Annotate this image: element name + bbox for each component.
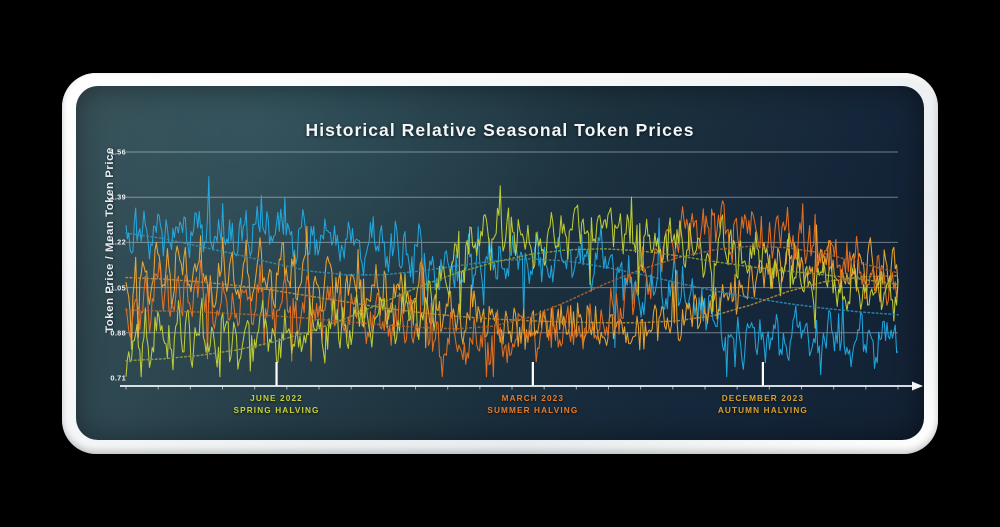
x-axis-marker-lines [277, 362, 763, 386]
series-lines [126, 177, 898, 377]
y-tick-label: 0.88 [92, 328, 126, 337]
y-tick-label: 1.56 [92, 148, 126, 157]
x-label-event: AUTUMN HALVING [718, 405, 808, 417]
chart-panel: Historical Relative Seasonal Token Price… [76, 86, 924, 440]
y-tick-label: 1.05 [92, 283, 126, 292]
y-tick-label: 1.22 [92, 238, 126, 247]
x-label-date: DECEMBER 2023 [722, 394, 804, 403]
x-label-event: SPRING HALVING [234, 405, 320, 417]
x-label-date: MARCH 2023 [502, 394, 564, 403]
x-axis-label-autumn: DECEMBER 2023AUTUMN HALVING [718, 393, 808, 417]
page-title: Historical Relative Seasonal Token Price… [76, 120, 924, 141]
x-axis-label-summer: MARCH 2023SUMMER HALVING [487, 393, 578, 417]
y-axis-ticks: 0.710.881.051.221.391.56 [82, 86, 126, 440]
x-axis-arrow-icon [912, 382, 923, 391]
x-label-event: SUMMER HALVING [487, 405, 578, 417]
screenshot-root: Historical Relative Seasonal Token Price… [0, 0, 1000, 527]
y-tick-label: 1.39 [92, 193, 126, 202]
y-tick-label: 0.71 [92, 374, 126, 383]
x-label-date: JUNE 2022 [250, 394, 303, 403]
x-axis [120, 382, 923, 391]
x-axis-label-spring: JUNE 2022SPRING HALVING [234, 393, 320, 417]
